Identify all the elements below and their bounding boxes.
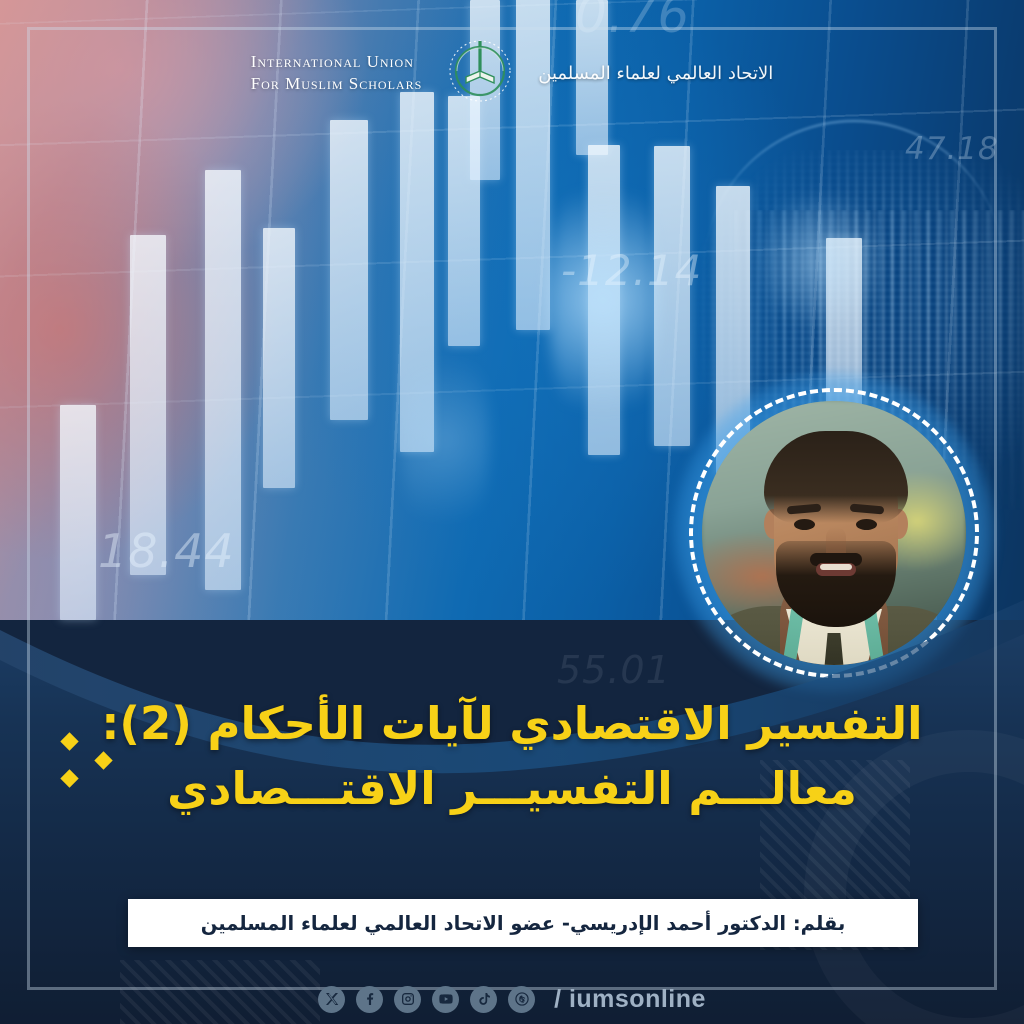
brand-header: International Union For Muslim Scholars … [0,28,1024,118]
poster-canvas: 0.76-12.1447.1818.4455.01 [0,0,1024,1024]
social-footer: / iumsonline [0,974,1024,1024]
open-book-emblem-icon [444,37,516,109]
title-line-2: معالـــم التفسيـــر الاقتـــصادي [70,760,954,819]
x-twitter-icon[interactable] [318,986,345,1013]
background-number: 47.18 [905,131,999,167]
light-glow [548,150,658,450]
organization-name-en-line1: International Union [251,51,423,73]
tiktok-icon[interactable] [470,986,497,1013]
social-handle[interactable]: / iumsonline [554,985,706,1014]
threads-icon[interactable] [508,986,535,1013]
background-number: -12.14 [561,246,702,295]
organization-name-ar: الاتحاد العالمي لعلماء المسلمين [538,63,773,84]
author-byline-text: بقلم: الدكتور أحمد الإدريسي- عضو الاتحاد… [201,912,846,935]
organization-name-en: International Union For Muslim Scholars [251,51,423,95]
instagram-icon[interactable] [394,986,421,1013]
light-glow [760,180,880,340]
light-glow [400,330,490,550]
youtube-icon[interactable] [432,986,459,1013]
facebook-icon[interactable] [356,986,383,1013]
page-title: التفسير الاقتصادي لآيات الأحكام (2): معا… [0,695,1024,818]
author-byline-bar: بقلم: الدكتور أحمد الإدريسي- عضو الاتحاد… [128,899,918,947]
chart-bar [263,228,295,488]
chart-bar [330,120,368,420]
title-line-1: التفسير الاقتصادي لآيات الأحكام (2): [70,695,954,754]
organization-name-en-line2: For Muslim Scholars [251,73,423,95]
chart-bar [654,146,690,446]
